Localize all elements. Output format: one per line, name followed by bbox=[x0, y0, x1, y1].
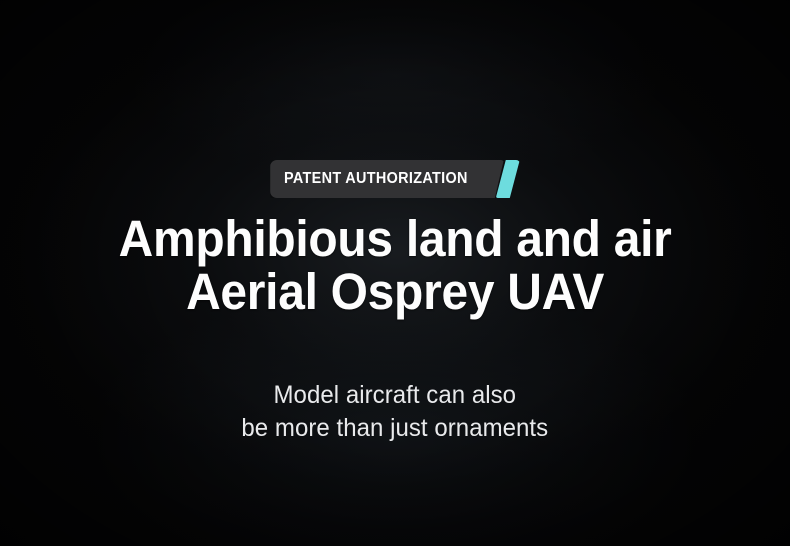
badge-plate: PATENT AUTHORIZATION bbox=[270, 160, 504, 198]
page-subtitle-line-1: Model aircraft can also bbox=[242, 379, 549, 412]
page-title-line-2: Aerial Osprey UAV bbox=[119, 265, 672, 318]
page-title-line-1: Amphibious land and air bbox=[119, 212, 672, 265]
status-badge: PATENT AUTHORIZATION bbox=[270, 160, 520, 198]
page-subtitle: Model aircraft can also be more than jus… bbox=[242, 379, 549, 445]
badge-label: PATENT AUTHORIZATION bbox=[284, 171, 468, 187]
hero-banner: PATENT AUTHORIZATION Amphibious land and… bbox=[0, 0, 790, 546]
banner-content: PATENT AUTHORIZATION Amphibious land and… bbox=[0, 0, 790, 546]
page-subtitle-line-2: be more than just ornaments bbox=[242, 412, 549, 445]
page-title: Amphibious land and air Aerial Osprey UA… bbox=[119, 212, 672, 319]
